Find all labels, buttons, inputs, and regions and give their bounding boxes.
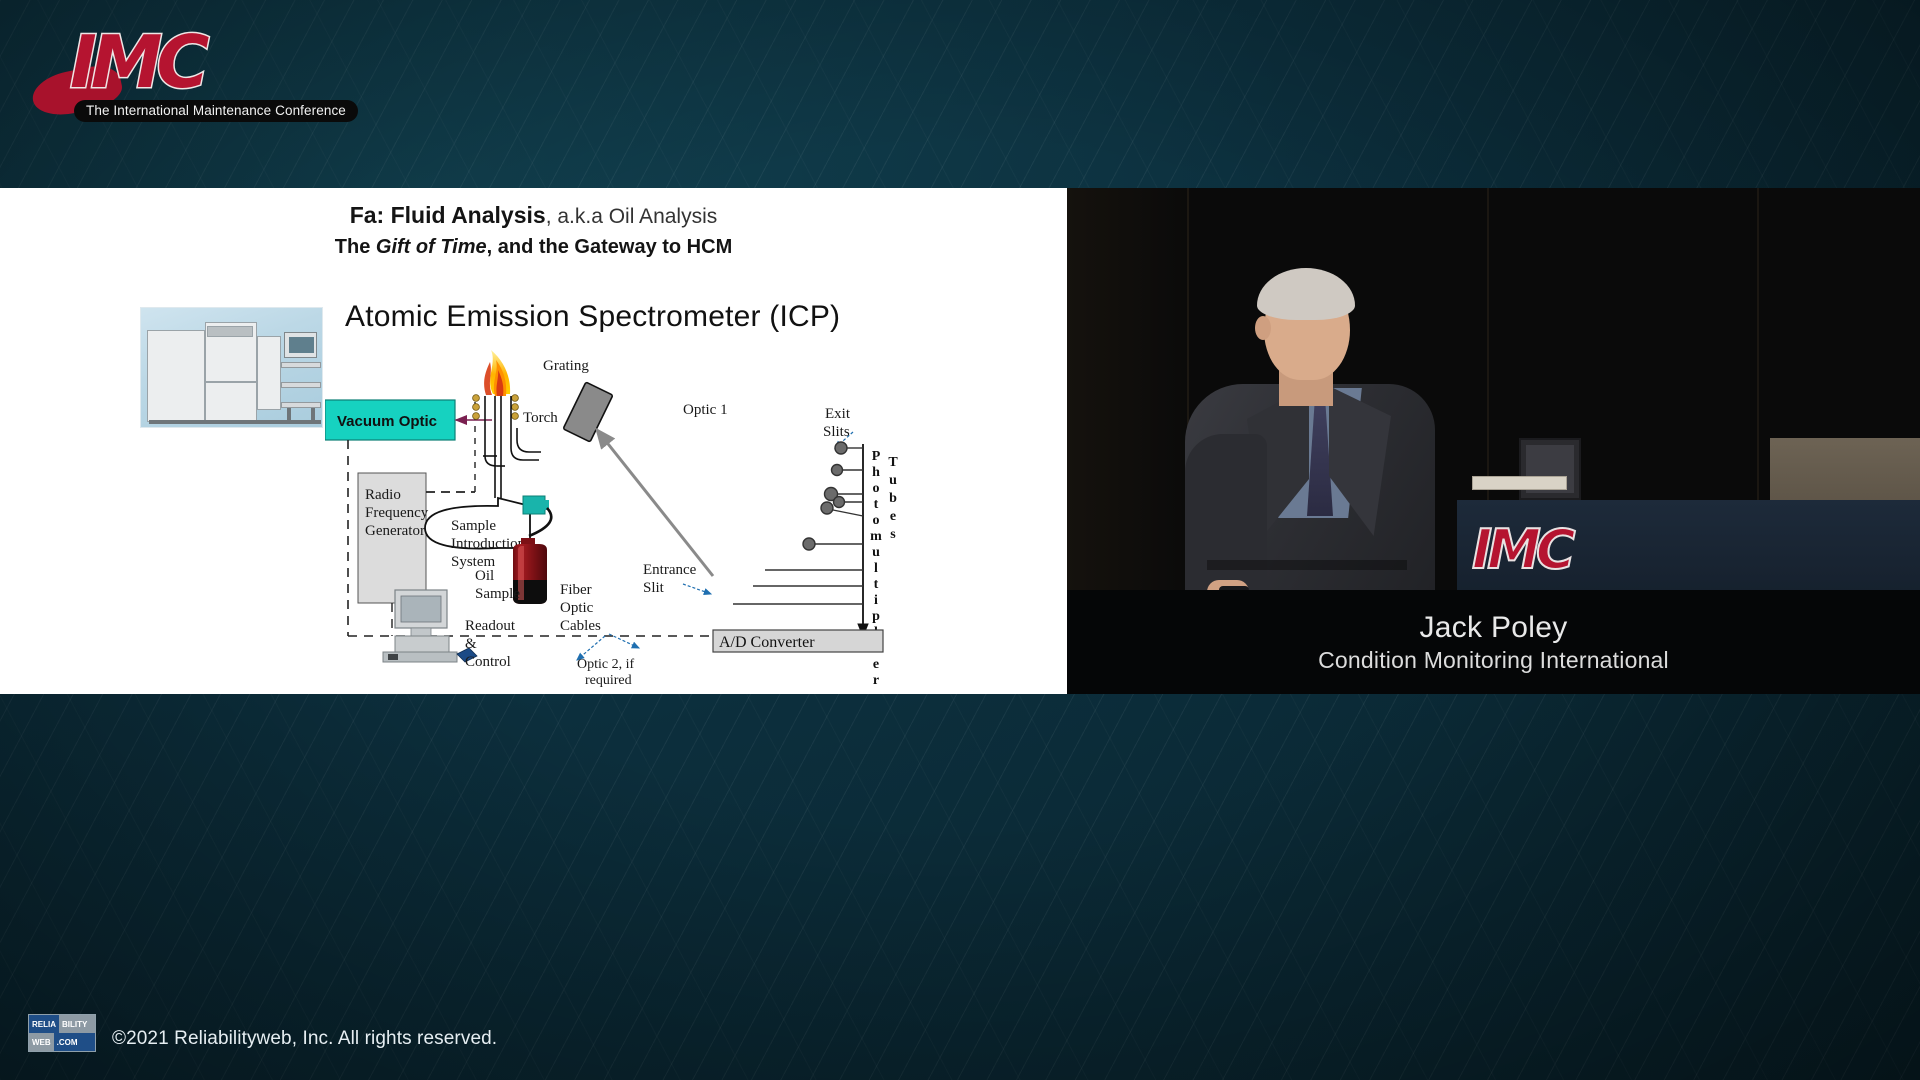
speaker-organization: Condition Monitoring International [1318, 647, 1669, 674]
speaker-arm [1185, 434, 1267, 599]
photo-cabinet-mid-bottom [205, 382, 257, 422]
oil-sample-label-line1: Oil [475, 568, 494, 584]
svg-text:o: o [873, 513, 880, 528]
torch-label: Torch [523, 410, 558, 426]
entrance-slit-label-line1: Entrance [643, 562, 697, 578]
desk-book [1472, 476, 1567, 490]
svg-text:o: o [873, 481, 880, 496]
svg-text:t: t [874, 497, 879, 512]
svg-text:l: l [874, 561, 878, 576]
entrance-slit-label-line2: Slit [643, 580, 665, 596]
rw-logo-row-top: RELIA BILITY [29, 1015, 95, 1033]
copyright-text: ©2021 Reliabilityweb, Inc. All rights re… [112, 1028, 497, 1050]
speaker-nameplate: Jack Poley Condition Monitoring Internat… [1067, 590, 1920, 694]
optic-2-label-line2: required [585, 673, 632, 688]
readout-label-line1: Readout [465, 618, 516, 634]
svg-text:t: t [874, 577, 879, 592]
rf-generator-label-line1: Radio [365, 487, 401, 503]
imc-tagline: The International Maintenance Conference [86, 103, 346, 118]
room-wall-shadow [1067, 188, 1197, 590]
laptop-icon [1519, 438, 1581, 500]
svg-text:s: s [890, 527, 896, 542]
webinar-screen: IMC The International Maintenance Confer… [0, 0, 1920, 1080]
entrance-slit-arrow [683, 584, 711, 594]
rw-logo-com: .COM [54, 1033, 95, 1051]
svg-text:b: b [889, 491, 897, 506]
photo-floor-line [149, 420, 321, 424]
slide-subtitle-post: , and the Gateway to HCM [487, 236, 733, 258]
svg-text:m: m [870, 529, 882, 544]
svg-text:e: e [873, 657, 879, 672]
rf-generator-label-line2: Frequency [365, 505, 429, 521]
ad-converter-label: A/D Converter [719, 634, 815, 651]
photo-monitor-screen [289, 337, 314, 353]
optic-1-label: Optic 1 [683, 402, 728, 418]
rw-logo-bility: BILITY [59, 1015, 95, 1033]
slide-title-light: , a.k.a Oil Analysis [546, 205, 718, 228]
tubes-vertical-label: Tub es [888, 455, 898, 542]
readout-computer-icon [383, 590, 477, 662]
photo-shelf-1 [281, 362, 321, 368]
rw-logo-row-bottom: WEB .COM [29, 1033, 95, 1051]
imc-logo: IMC The International Maintenance Confer… [32, 22, 332, 122]
photo-monitor [284, 332, 317, 358]
photo-cabinet-right [257, 336, 281, 410]
imc-wordmark: IMC [70, 26, 203, 98]
photo-cabinet-left [147, 330, 205, 422]
speaker-belt-shadow [1207, 560, 1407, 570]
oil-sample-label-line2: Sample [475, 586, 520, 602]
optic-2-label-line1: Optic 2, if [577, 657, 634, 672]
footer-bar: RELIA BILITY WEB .COM ©2021 Reliabilityw… [0, 984, 1920, 1080]
icp-schematic-diagram: Vacuum Optic Radio Frequency Generator [325, 348, 905, 688]
vacuum-optic-label: Vacuum Optic [337, 413, 437, 430]
fiber-optic-label-line3: Cables [560, 618, 601, 634]
svg-text:P: P [872, 449, 881, 464]
exit-slits-label-line2: Slits [823, 424, 850, 440]
svg-text:p: p [872, 609, 880, 624]
slide-subtitle-pre: The [335, 236, 376, 258]
slide-heading: Atomic Emission Spectrometer (ICP) [345, 300, 840, 334]
readout-label-line2: & [465, 636, 477, 652]
rw-logo-relia: RELIA [29, 1015, 59, 1033]
svg-text:i: i [874, 593, 878, 608]
fiber-optic-label-line2: Optic [560, 600, 594, 616]
svg-text:u: u [889, 473, 897, 488]
grating-element [563, 382, 613, 442]
podium-imc-logo: IMC [1472, 518, 1570, 581]
imc-tagline-pill: The International Maintenance Conference [74, 100, 358, 122]
speaker-name: Jack Poley [1419, 611, 1567, 645]
slide-title-bold: Fa: Fluid Analysis [350, 202, 546, 228]
slide-title-line-2: The Gift of Time, and the Gateway to HCM [0, 236, 1067, 259]
photo-cabinet-vent [207, 326, 253, 337]
svg-text:r: r [873, 673, 879, 688]
reliabilityweb-logo: RELIA BILITY WEB .COM [28, 1014, 96, 1052]
svg-text:T: T [888, 455, 898, 470]
svg-text:h: h [872, 465, 880, 480]
rf-generator-label-line3: Generator [365, 523, 425, 539]
exit-slits-label-line1: Exit [825, 406, 851, 422]
slide-subtitle-italic: Gift of Time [376, 236, 487, 258]
slide-title-line-1: Fa: Fluid Analysis, a.k.a Oil Analysis [0, 202, 1067, 229]
fiber-optic-label-line1: Fiber [560, 582, 592, 598]
sample-intro-label-line1: Sample [451, 518, 496, 534]
photo-shelf-2 [281, 382, 321, 388]
optical-beam-line [597, 430, 713, 576]
svg-text:e: e [890, 509, 896, 524]
speaker-ear [1255, 316, 1271, 340]
icp-instrument-photo [140, 307, 323, 428]
speaker-video-pane: IMC Jack Poley Condition Monitoring Inte… [1067, 188, 1920, 694]
pmt-detectors [733, 442, 863, 604]
svg-text:u: u [872, 545, 880, 560]
readout-label-line3: Control [465, 654, 511, 670]
grating-label: Grating [543, 358, 589, 374]
rw-logo-web: WEB [29, 1033, 54, 1051]
presentation-slide: Fa: Fluid Analysis, a.k.a Oil Analysis T… [0, 188, 1067, 694]
